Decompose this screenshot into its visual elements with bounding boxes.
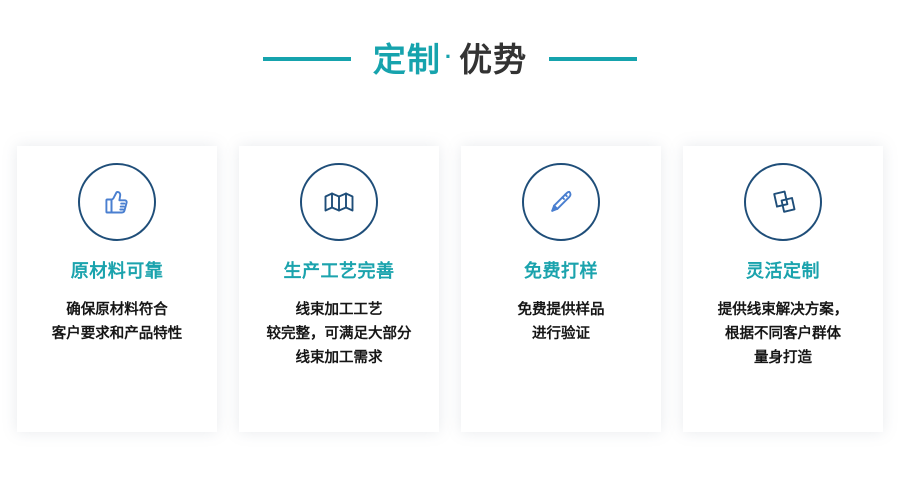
icon-ring [78, 163, 156, 241]
card-description-line: 进行验证 [469, 322, 653, 346]
card-description: 确保原材料符合 客户要求和产品特性 [25, 298, 209, 346]
feature-card-production-process[interactable]: 生产工艺完善 线束加工工艺 较完整，可满足大部分 线束加工需求 [239, 146, 439, 432]
icon-ring [744, 163, 822, 241]
card-description-line: 较完整，可满足大部分 [247, 322, 431, 346]
feature-card-free-sample[interactable]: 免费打样 免费提供样品 进行验证 [461, 146, 661, 432]
card-title: 灵活定制 [746, 262, 820, 280]
pencil-icon [540, 181, 582, 223]
card-description-line: 客户要求和产品特性 [25, 322, 209, 346]
card-description-line: 量身打造 [691, 346, 875, 370]
icon-ring [522, 163, 600, 241]
card-description-line: 确保原材料符合 [25, 298, 209, 322]
card-description-line: 免费提供样品 [469, 298, 653, 322]
card-description: 免费提供样品 进行验证 [469, 298, 653, 346]
card-title: 原材料可靠 [71, 262, 164, 280]
heading-rule-left [263, 57, 351, 61]
card-description-line: 提供线束解决方案， [691, 298, 875, 322]
feature-card-row: 原材料可靠 确保原材料符合 客户要求和产品特性 生产工艺完善 线束加工工艺 较完… [0, 146, 900, 438]
card-description-line: 线束加工需求 [247, 346, 431, 370]
card-title: 免费打样 [524, 262, 598, 280]
section-heading: 定制 · 优势 [0, 30, 900, 88]
page-title: 定制 · 优势 [373, 43, 527, 76]
heading-rule-right [549, 57, 637, 61]
page-title-separator-dot: · [441, 46, 459, 68]
card-title: 生产工艺完善 [284, 262, 395, 280]
card-description-line: 线束加工工艺 [247, 298, 431, 322]
card-description: 线束加工工艺 较完整，可满足大部分 线束加工需求 [247, 298, 431, 370]
thumbs-up-icon [97, 182, 137, 222]
card-description-line: 根据不同客户群体 [691, 322, 875, 346]
feature-card-flexible-custom[interactable]: 灵活定制 提供线束解决方案， 根据不同客户群体 量身打造 [683, 146, 883, 432]
feature-card-raw-material[interactable]: 原材料可靠 确保原材料符合 客户要求和产品特性 [17, 146, 217, 432]
stacked-cards-icon [762, 181, 804, 223]
card-description: 提供线束解决方案， 根据不同客户群体 量身打造 [691, 298, 875, 370]
page-title-accent: 定制 [373, 43, 441, 76]
page-title-main: 优势 [459, 43, 527, 76]
folded-map-icon [318, 181, 360, 223]
icon-ring [300, 163, 378, 241]
